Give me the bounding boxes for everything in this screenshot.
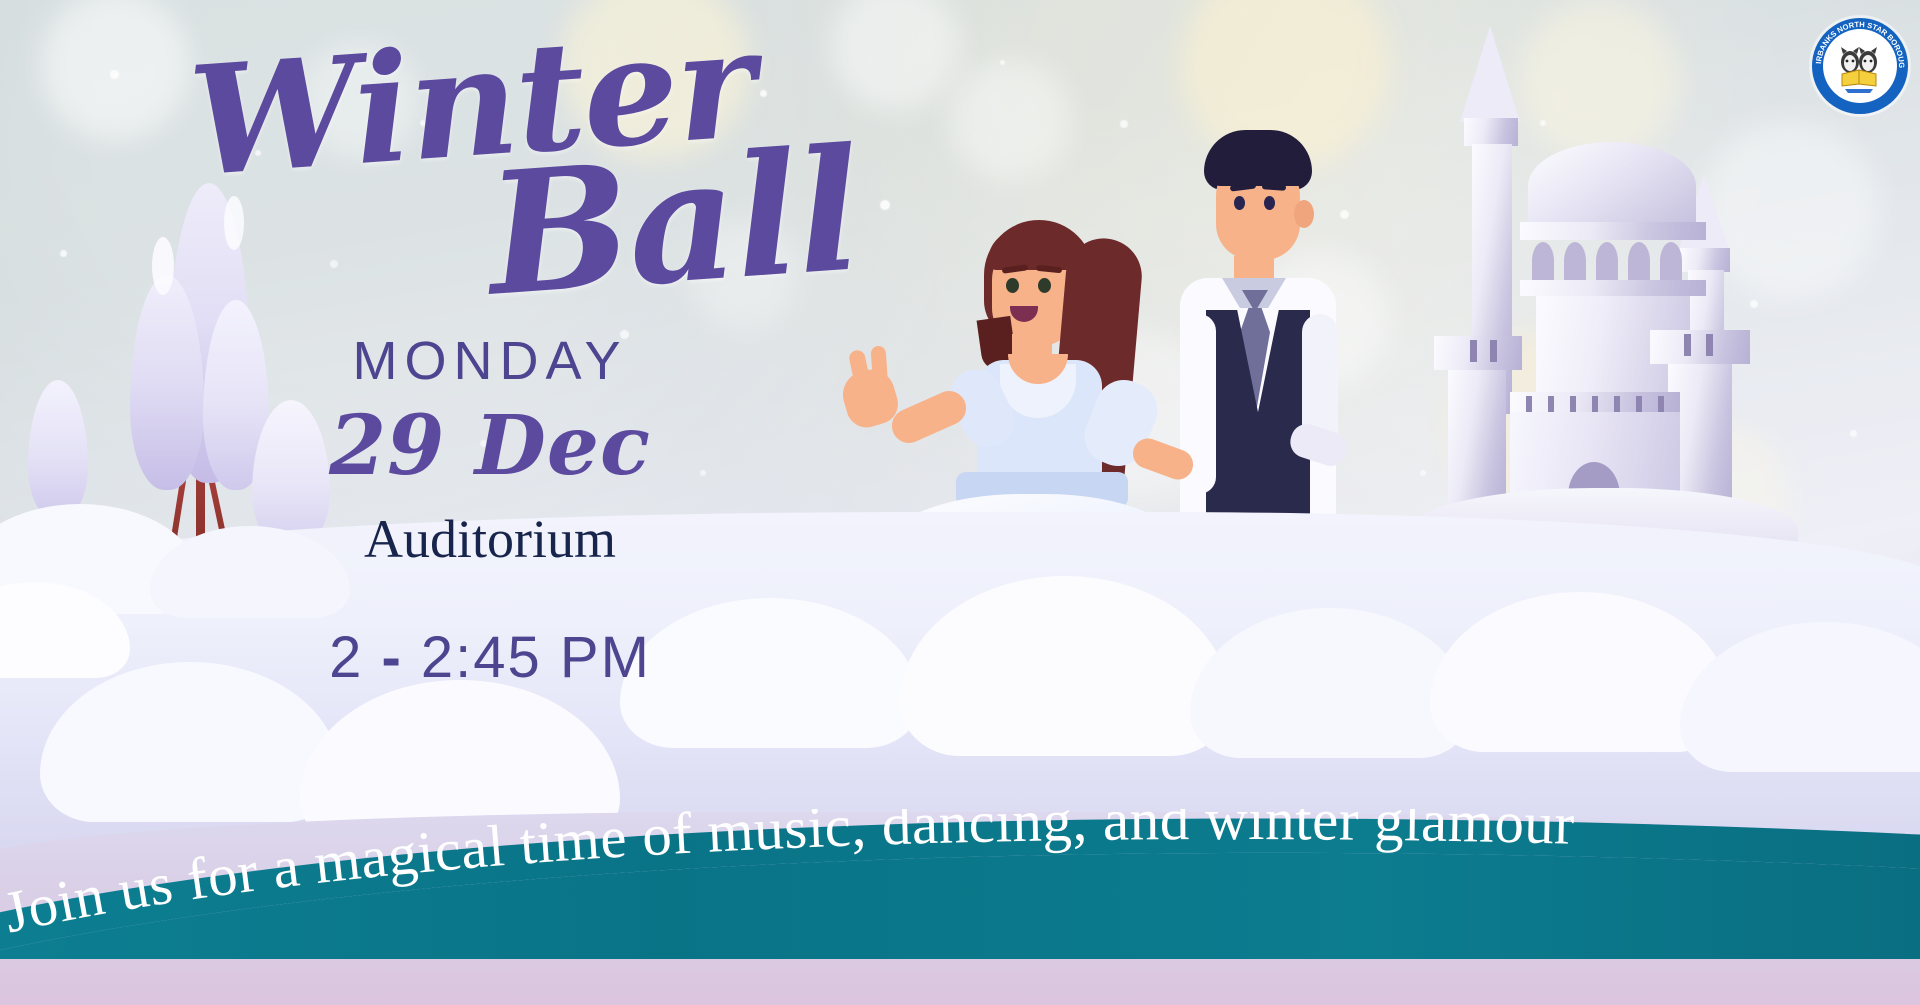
library-logo: FAIRBANKS NORTH STAR BOROUGH PUBLIC LIBR… — [1812, 18, 1908, 114]
event-date: 29 Dec — [230, 398, 750, 494]
ribbon-banner: Join us for a magical time of music, dan… — [0, 809, 1920, 959]
logo-top-arc-text: FAIRBANKS NORTH STAR BOROUGH — [1812, 18, 1906, 68]
title-line-ball: Ball — [483, 125, 864, 318]
event-details: MONDAY 29 Dec Auditorium 2 - 2:45 PM — [230, 330, 750, 691]
husky-dogs-reading-book-icon — [1841, 47, 1877, 93]
svg-text:FAIRBANKS NORTH STAR BOROUGH: FAIRBANKS NORTH STAR BOROUGH — [1812, 18, 1906, 68]
poster-headline: Winter Ball — [170, 10, 870, 310]
time-dash: - — [381, 625, 402, 690]
time-meridiem: PM — [560, 625, 651, 690]
event-day: MONDAY — [230, 330, 750, 392]
time-end: 2:45 — [421, 625, 542, 690]
ice-castle — [1378, 18, 1818, 578]
event-time: 2 - 2:45 PM — [230, 624, 750, 691]
time-start: 2 — [329, 625, 363, 690]
winter-ball-poster: Winter Ball MONDAY 29 Dec Auditorium 2 -… — [0, 0, 1920, 1005]
event-venue: Auditorium — [230, 508, 750, 570]
